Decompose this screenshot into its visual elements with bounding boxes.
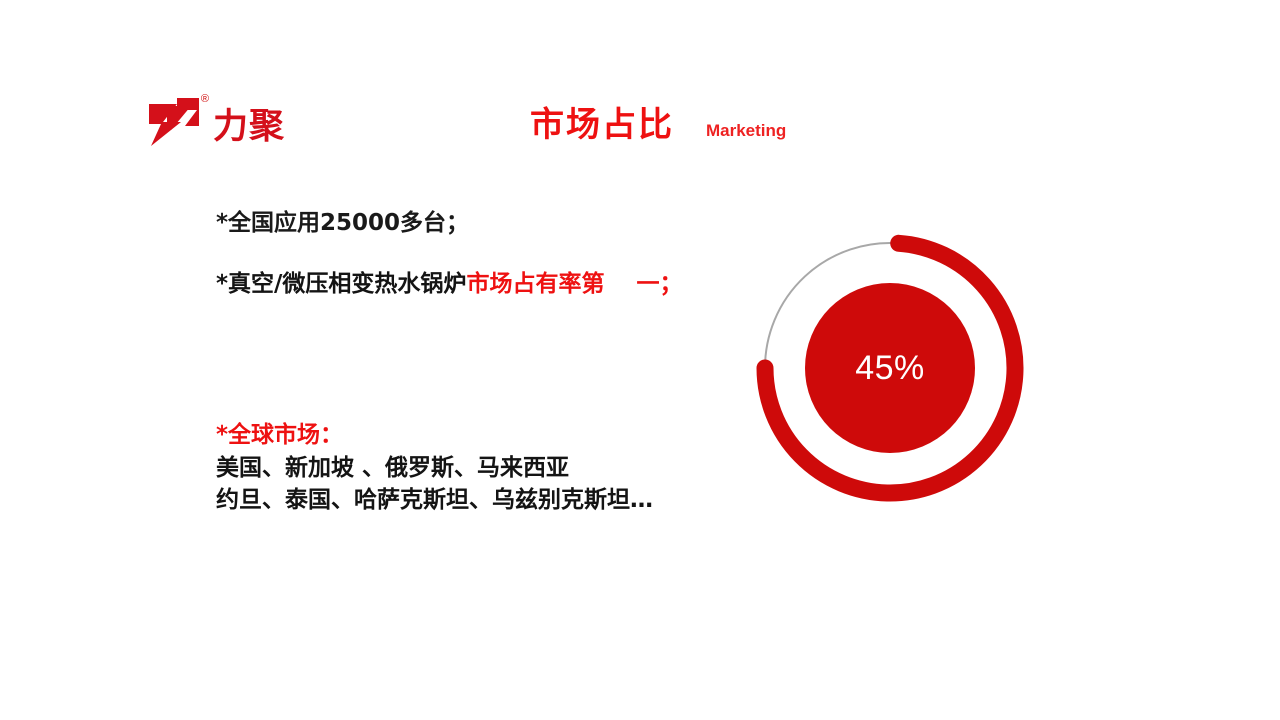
brand-wordmark: 力聚 [213, 110, 285, 145]
slide-canvas: ® 力聚 市场占比 Marketing *全国应用25000多台； *真空/微压… [0, 0, 1280, 720]
global-market-line-1: 美国、新加坡 、俄罗斯、马来西亚 [216, 453, 776, 485]
global-market-block: *全球市场： 美国、新加坡 、俄罗斯、马来西亚 约旦、泰国、哈萨克斯坦、乌兹别克… [216, 420, 776, 517]
global-market-heading: *全球市场： [216, 420, 776, 451]
bullet-item-2-wrap: 一； [636, 271, 682, 297]
page-title-subtitle: Marketing [706, 122, 786, 139]
bullet-item-2-highlight: 市场占有率第 [466, 271, 604, 297]
bullet-item-2-lead: *真空/微压相变热水锅炉 [216, 271, 466, 297]
global-market-line-2: 约旦、泰国、哈萨克斯坦、乌兹别克斯坦… [216, 485, 776, 517]
page-title: 市场占比 Marketing [530, 108, 786, 142]
registered-trademark-icon: ® [201, 94, 209, 105]
brand-logo: ® 力聚 [147, 92, 285, 148]
page-title-main: 市场占比 [530, 108, 674, 142]
market-share-donut-chart: 45% [745, 223, 1035, 513]
donut-center-circle [805, 283, 975, 453]
lightning-bolt-logo-icon: ® [147, 96, 203, 148]
bullet-item-1: *全国应用25000多台； [216, 208, 736, 239]
bullet-item-2: *真空/微压相变热水锅炉市场占有率第 一； [216, 269, 736, 300]
body-copy: *全国应用25000多台； *真空/微压相变热水锅炉市场占有率第 一； [216, 208, 736, 300]
